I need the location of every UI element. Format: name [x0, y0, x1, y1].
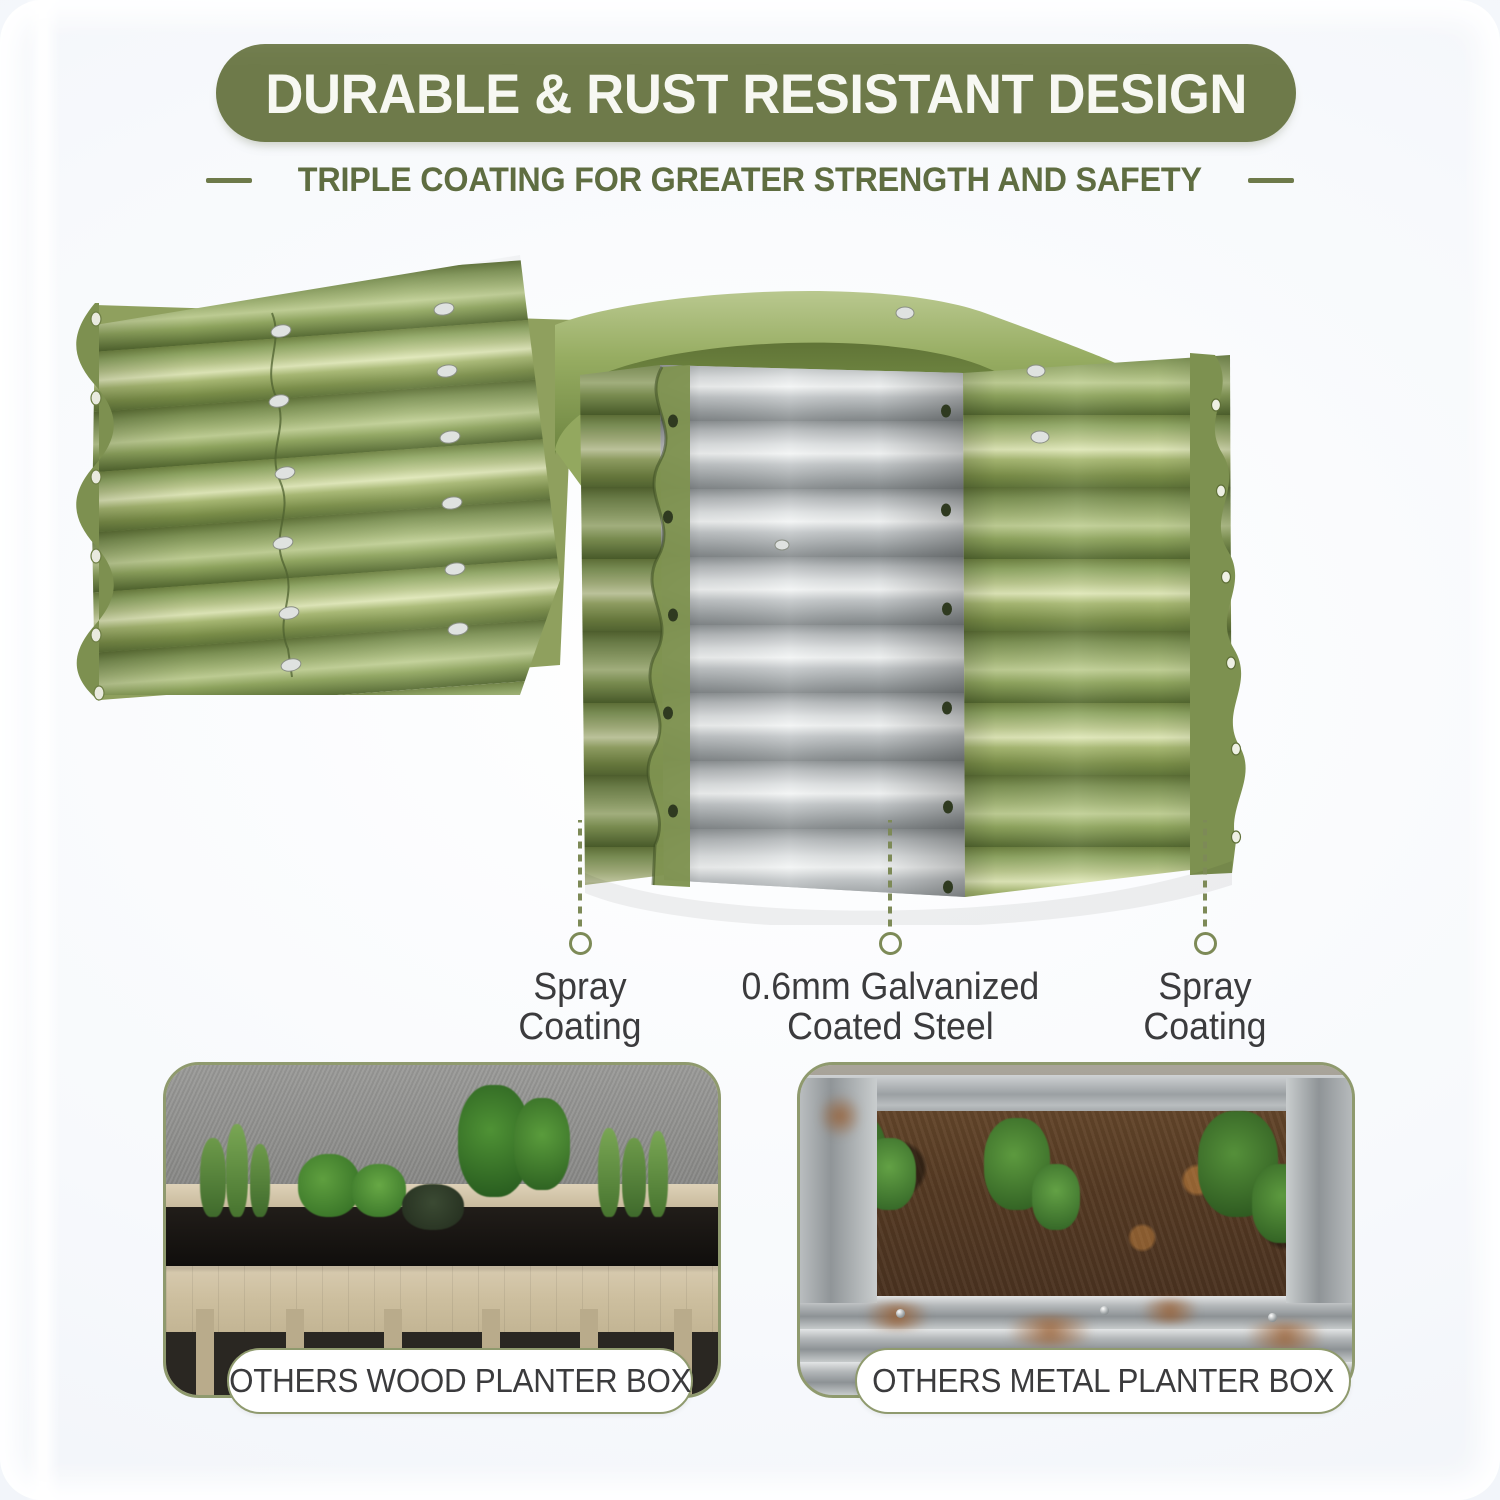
- callout-group: Spray Coating 0.6mm Galvanized Coated St…: [0, 820, 1500, 1050]
- badge-label: OTHERS METAL PLANTER BOX: [872, 1362, 1334, 1400]
- header-banner: DURABLE & RUST RESISTANT DESIGN: [216, 44, 1296, 142]
- dash-right-icon: [1248, 178, 1294, 183]
- callout-spray-coating-right: Spray Coating: [1085, 820, 1325, 1048]
- leader-line-left: [578, 820, 582, 955]
- callout-label: Spray Coating: [1092, 967, 1318, 1048]
- badge-metal-planter: OTHERS METAL PLANTER BOX: [855, 1348, 1351, 1414]
- flat-sheet-panel: [44, 245, 640, 774]
- callout-label: 0.6mm Galvanized Coated Steel: [741, 967, 1039, 1048]
- callout-label: Spray Coating: [467, 967, 693, 1048]
- comparison-section: OTHERS WOOD PLANTER BOX: [0, 1062, 1500, 1442]
- leader-ring-icon: [879, 932, 902, 955]
- badge-wood-planter: OTHERS WOOD PLANTER BOX: [227, 1348, 693, 1414]
- page-title: DURABLE & RUST RESISTANT DESIGN: [265, 61, 1247, 126]
- callout-spray-coating-left: Spray Coating: [460, 820, 700, 1048]
- callout-galvanized-steel: 0.6mm Galvanized Coated Steel: [720, 820, 1060, 1048]
- subtitle-row: TRIPLE COATING FOR GREATER STRENGTH AND …: [0, 152, 1500, 208]
- leader-line-center: [888, 820, 892, 955]
- metal-planter-photo: [800, 1065, 1352, 1395]
- leader-line-right: [1203, 820, 1207, 955]
- dash-left-icon: [206, 178, 252, 183]
- leader-ring-icon: [569, 932, 592, 955]
- wood-planter-photo: [166, 1065, 718, 1395]
- leader-ring-icon: [1194, 932, 1217, 955]
- badge-label: OTHERS WOOD PLANTER BOX: [229, 1362, 691, 1400]
- page-subtitle: TRIPLE COATING FOR GREATER STRENGTH AND …: [298, 161, 1202, 200]
- infographic-page: DURABLE & RUST RESISTANT DESIGN TRIPLE C…: [0, 0, 1500, 1500]
